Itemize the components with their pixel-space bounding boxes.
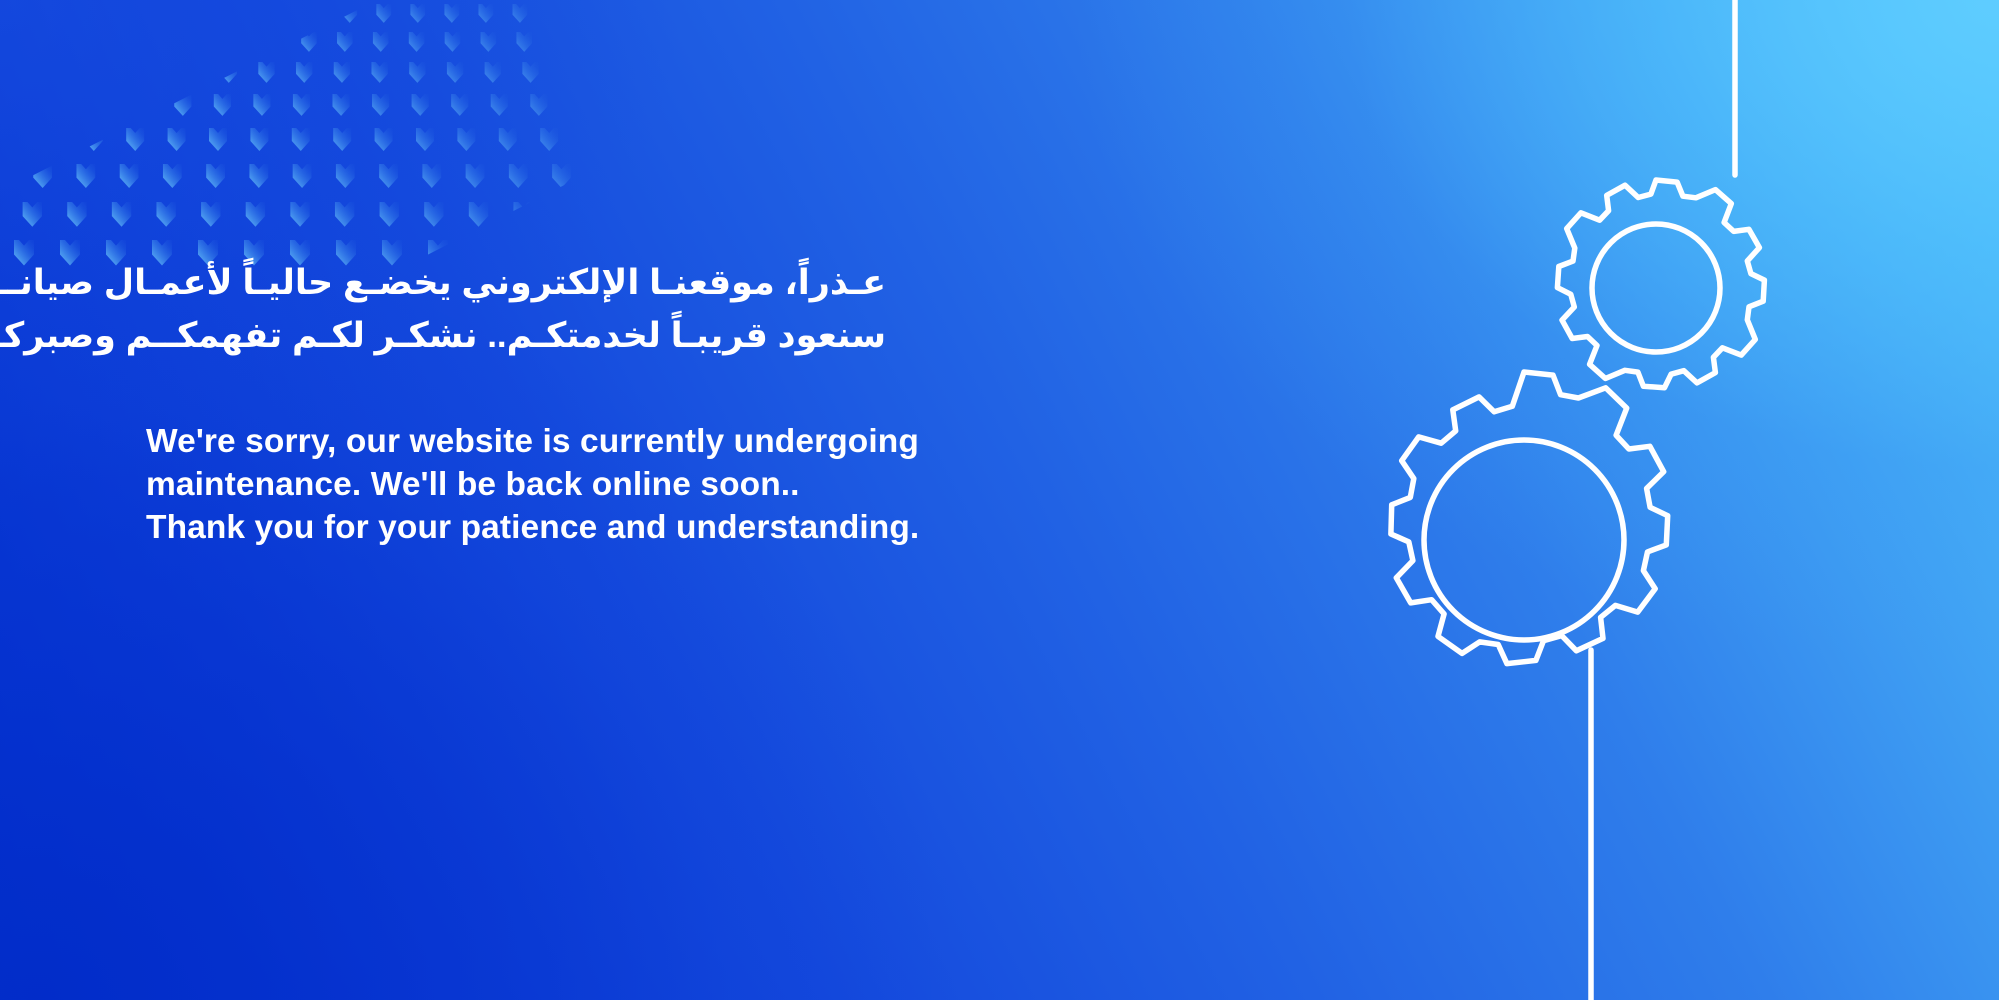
- gear-small-upper: [1557, 180, 1764, 388]
- gear-large-hub: [1424, 440, 1624, 640]
- gears-illustration: [1179, 0, 1999, 1000]
- message-content: عـذراً، موقعنـا الإلكتروني يخضـع حاليـاً…: [146, 256, 1146, 549]
- arabic-message: عـذراً، موقعنـا الإلكتروني يخضـع حاليـاً…: [146, 256, 886, 362]
- english-message-line-2: maintenance. We'll be back online soon..: [146, 463, 1146, 506]
- gear-small-hub: [1592, 224, 1720, 352]
- arabic-message-line-2: سنعود قريبـاً لخدمتكـم.. نشكـر لكـم تفهم…: [146, 309, 886, 362]
- english-message-line-3: Thank you for your patience and understa…: [146, 506, 1146, 549]
- gear-large-lower: [1391, 372, 1668, 664]
- arabic-message-line-1: عـذراً، موقعنـا الإلكتروني يخضـع حاليـاً…: [146, 256, 886, 309]
- english-message-line-1: We're sorry, our website is currently un…: [146, 420, 1146, 463]
- english-message: We're sorry, our website is currently un…: [146, 420, 1146, 549]
- maintenance-page: عـذراً، موقعنـا الإلكتروني يخضـع حاليـاً…: [0, 0, 1999, 1000]
